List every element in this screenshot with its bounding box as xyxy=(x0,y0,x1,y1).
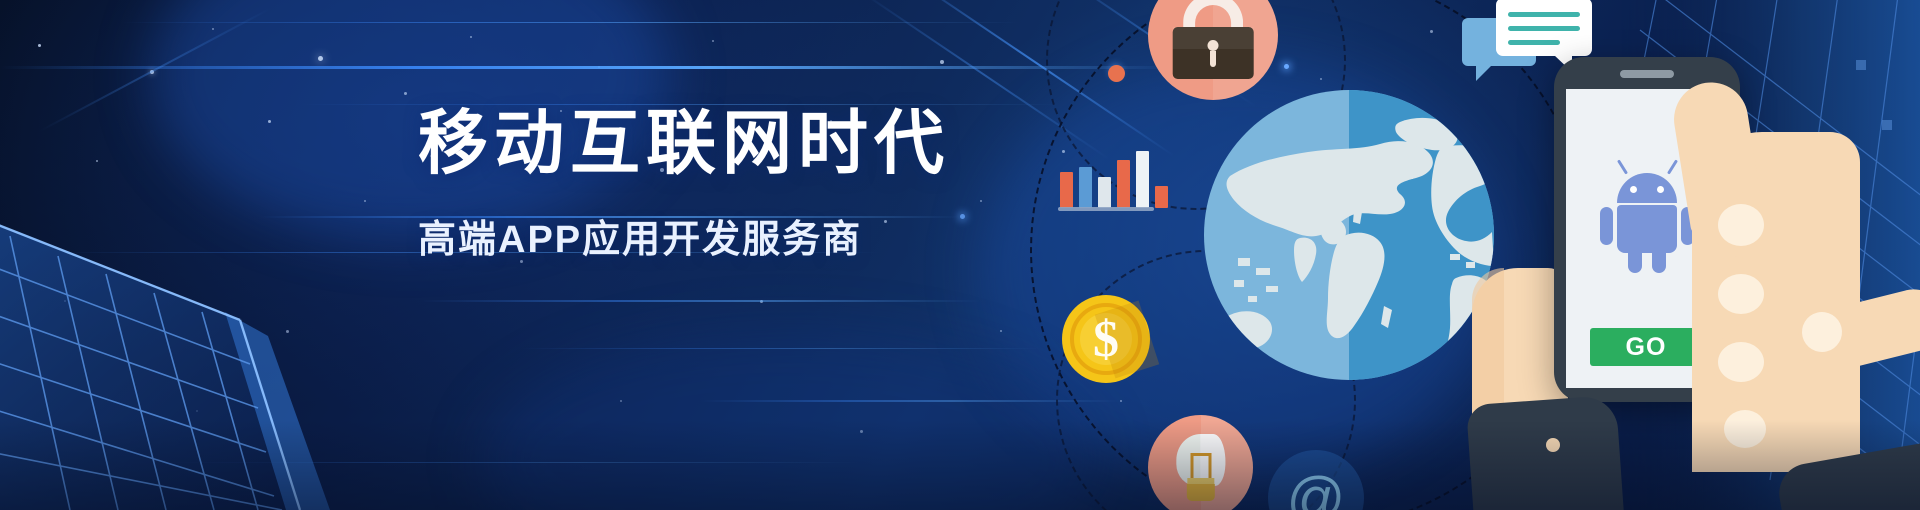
padlock-keyhole-icon xyxy=(1208,40,1219,51)
hero-text-block: 移动互联网时代 高端APP应用开发服务商 xyxy=(418,108,978,263)
hand-with-phone: GO xyxy=(1480,0,1920,510)
wireframe-building-left xyxy=(0,150,430,510)
bar-chart-axis xyxy=(1058,207,1154,211)
globe-icon xyxy=(1204,90,1494,380)
android-robot-icon xyxy=(1601,161,1693,253)
bulb-base-icon xyxy=(1186,484,1214,501)
fingernail-4 xyxy=(1724,410,1766,448)
padlock-icon xyxy=(1148,0,1278,100)
page-subtitle: 高端APP应用开发服务商 xyxy=(418,208,978,263)
table-row xyxy=(1079,167,1092,208)
table-row xyxy=(1060,172,1073,208)
lightbulb-icon xyxy=(1148,415,1253,510)
fingernail-1 xyxy=(1718,204,1764,246)
at-symbol: @ xyxy=(1287,465,1346,510)
go-button[interactable]: GO xyxy=(1590,328,1702,366)
table-row xyxy=(1136,151,1149,208)
page-title: 移动互联网时代 xyxy=(418,108,978,178)
phone-speaker-icon xyxy=(1620,70,1674,78)
table-row xyxy=(1098,177,1111,208)
hero-banner: 移动互联网时代 高端APP应用开发服务商 xyxy=(0,0,1920,510)
bar-chart-icon xyxy=(1060,145,1152,213)
bar-chart-bars xyxy=(1060,146,1168,208)
fingernail-2 xyxy=(1718,274,1764,314)
go-button-label: GO xyxy=(1626,333,1667,362)
dollar-symbol: $ xyxy=(1062,295,1150,383)
cuff-button xyxy=(1546,438,1560,452)
table-row xyxy=(1155,186,1168,208)
sleeve-cuff xyxy=(1466,395,1624,510)
table-row xyxy=(1117,160,1130,208)
dollar-coin-icon: $ xyxy=(1062,295,1150,383)
fingernail-3 xyxy=(1718,342,1764,382)
